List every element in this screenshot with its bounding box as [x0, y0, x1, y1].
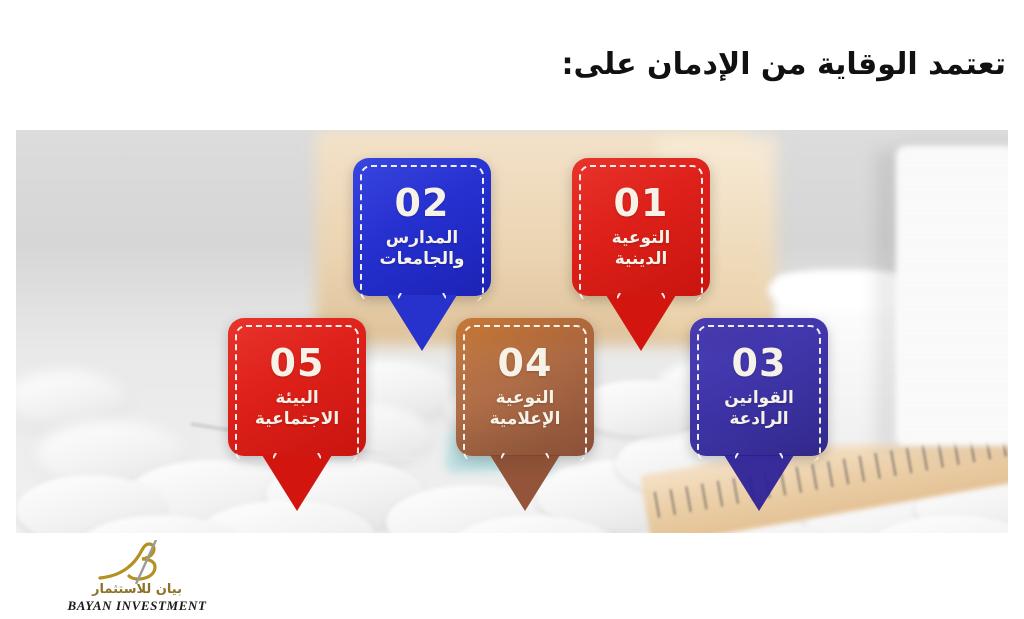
pin-03-label-line1: القوانين	[697, 388, 821, 409]
pin-04-body[interactable]: 04 التوعية الإعلامية	[456, 318, 594, 456]
logo-arabic-name: بيان للاستثمار	[42, 582, 232, 597]
pin-04-number: 04	[498, 344, 553, 382]
bottle-cap	[896, 146, 1008, 446]
pin-02-body[interactable]: 02 المدارس والجامعات	[353, 158, 491, 296]
pin-01-label-line1: التوعية	[579, 228, 703, 249]
bayan-b-monogram-icon	[94, 540, 184, 584]
pin-05-body[interactable]: 05 البيئة الاجتماعية	[228, 318, 366, 456]
page-title: تعتمد الوقاية من الإدمان على:	[561, 47, 1006, 83]
pin-05-label-line1: البيئة	[235, 388, 359, 409]
pin-02-label-line2: والجامعات	[360, 249, 484, 270]
pin-03-number: 03	[732, 344, 787, 382]
pin-04-tail	[456, 455, 594, 511]
pin-05[interactable]: 05 البيئة الاجتماعية	[228, 318, 366, 511]
pin-04-label-line2: الإعلامية	[463, 409, 587, 430]
pin-02-label-line1: المدارس	[360, 228, 484, 249]
pill-shape	[576, 380, 706, 436]
pin-04-label-line1: التوعية	[463, 388, 587, 409]
company-logo: بيان للاستثمار BAYAN INVESTMENT	[42, 540, 232, 612]
pin-05-label-line2: الاجتماعية	[235, 409, 359, 430]
pin-05-number: 05	[270, 344, 325, 382]
pin-03-label-line2: الرادعة	[697, 409, 821, 430]
pin-01-number: 01	[614, 184, 669, 222]
pin-03-tail	[690, 455, 828, 511]
pin-05-tail	[228, 455, 366, 511]
photo-panel: 40 50 60 01 التوعية الدينية 02 المدارس و…	[16, 130, 1008, 533]
pin-02-number: 02	[395, 184, 450, 222]
pin-04[interactable]: 04 التوعية الإعلامية	[456, 318, 594, 511]
logo-english-name: BAYAN INVESTMENT	[42, 598, 232, 614]
title-bar: تعتمد الوقاية من الإدمان على:	[0, 0, 1024, 130]
pin-03[interactable]: 03 القوانين الرادعة	[690, 318, 828, 511]
pin-01-body[interactable]: 01 التوعية الدينية	[572, 158, 710, 296]
pin-03-body[interactable]: 03 القوانين الرادعة	[690, 318, 828, 456]
pin-01-label-line2: الدينية	[579, 249, 703, 270]
